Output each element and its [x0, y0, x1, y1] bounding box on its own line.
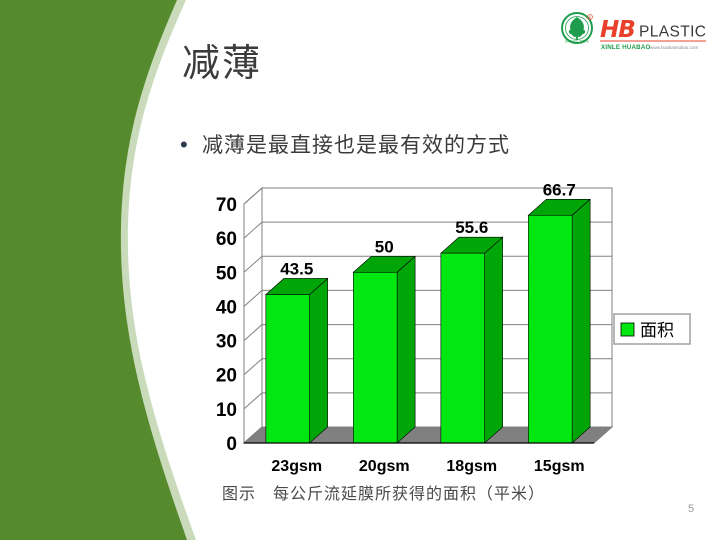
bar-side-face [485, 237, 503, 443]
x-axis-category-label: 23gsm [271, 458, 322, 475]
page-number: 5 [688, 503, 694, 515]
bar-chart: 01020304050607043.523gsm5020gsm55.618gsm… [214, 176, 704, 476]
brand-wordmark: HB PLASTIC XINLE HUABAO www.huabaosuliao… [600, 17, 706, 51]
chart-caption: 图示 每公斤流延膜所获得的面积（平米） [222, 480, 545, 504]
legend-label: 面积 [640, 321, 674, 341]
bar-value-label: 66.7 [543, 180, 576, 199]
bar-front-face [528, 215, 572, 443]
slide-canvas: GREEN TREE R HB PLASTIC XINLE HUABAO www… [0, 0, 720, 540]
y-axis-tick-label: 30 [216, 332, 237, 353]
y-axis-tick-label: 40 [216, 297, 237, 318]
y-axis-tick-label: 50 [216, 263, 237, 284]
x-axis-category-label: 18gsm [446, 458, 497, 475]
bar-side-face [397, 256, 415, 443]
y-axis-tick-label: 70 [216, 195, 237, 216]
y-axis-tick-label: 20 [216, 366, 237, 387]
bar-side-face [572, 199, 590, 443]
company-logo: GREEN TREE R HB PLASTIC XINLE HUABAO www… [560, 8, 706, 56]
y-axis-tick-label: 60 [216, 229, 237, 250]
svg-text:PLASTIC: PLASTIC [639, 24, 706, 41]
chart-left-wall [244, 188, 262, 443]
green-tree-roundel-icon: GREEN TREE R [562, 13, 592, 43]
bar-value-label: 55.6 [455, 218, 488, 237]
bullet-item: • 减薄是最直接也是最有效的方式 [180, 130, 610, 160]
legend-swatch [621, 323, 634, 336]
y-axis-tick-label: 0 [226, 434, 237, 455]
svg-text:GREEN TREE: GREEN TREE [565, 39, 590, 43]
x-axis-category-label: 15gsm [534, 458, 585, 475]
bullet-text: 减薄是最直接也是最有效的方式 [202, 130, 510, 160]
x-axis-category-label: 20gsm [359, 458, 410, 475]
y-axis-tick-label: 10 [216, 400, 237, 421]
bar-value-label: 50 [375, 237, 394, 256]
svg-text:XINLE HUABAO: XINLE HUABAO [601, 44, 651, 51]
svg-text:www.huabaosuliao.com: www.huabaosuliao.com [650, 45, 698, 50]
bar-side-face [310, 278, 328, 443]
bar-value-label: 43.5 [280, 259, 313, 278]
bullet-marker-icon: • [180, 130, 202, 160]
bar-front-face [353, 272, 397, 443]
bar-front-face [266, 294, 310, 443]
page-title: 减薄 [182, 40, 262, 86]
bar-front-face [441, 253, 485, 443]
svg-text:HB: HB [600, 17, 635, 43]
